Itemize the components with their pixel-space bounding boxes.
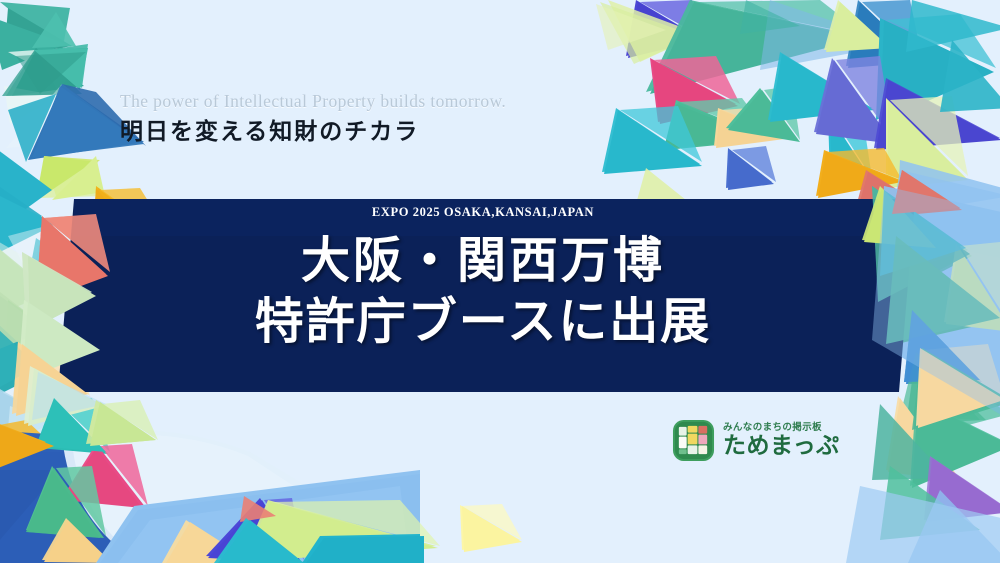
tagline-block: The power of Intellectual Property build…: [120, 90, 506, 148]
tamemap-logo-lockup[interactable]: みんなのまちの掲示板 ためまっぷ: [672, 419, 840, 462]
logo-wordmark: みんなのまちの掲示板 ためまっぷ: [723, 423, 840, 459]
tagline-japanese: 明日を変える知財のチカラ: [120, 115, 506, 148]
tamemap-tile-grid-icon: [672, 419, 715, 462]
logo-subtitle: みんなのまちの掲示板: [723, 423, 840, 433]
tagline-english: The power of Intellectual Property build…: [120, 90, 506, 113]
logo-name: ためまっぷ: [723, 435, 840, 458]
poster-canvas: The power of Intellectual Property build…: [0, 0, 1000, 563]
geometric-triangles-background: [0, 0, 1000, 563]
